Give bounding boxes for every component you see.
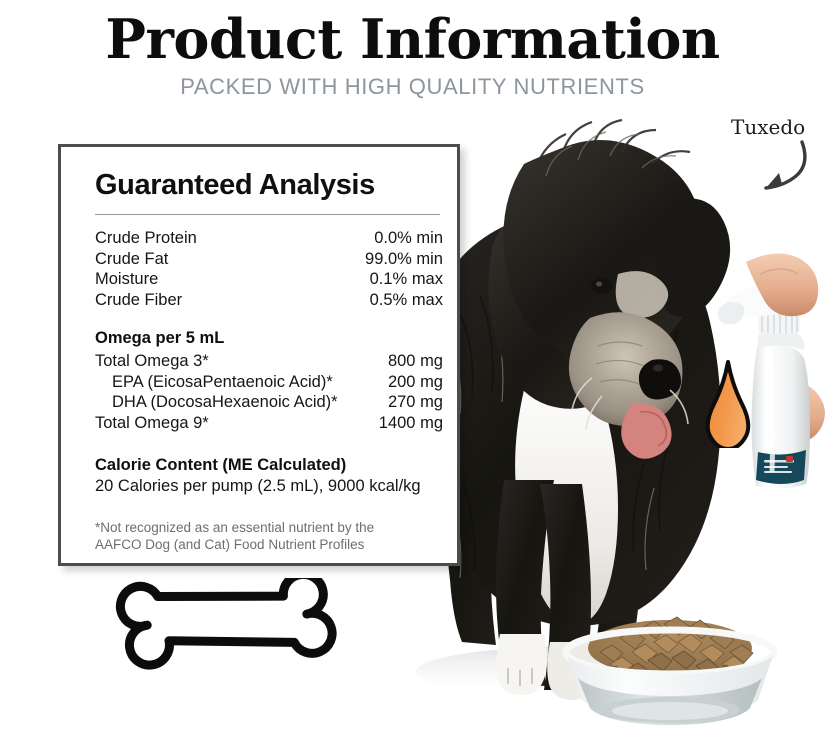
table-row: Crude Protein 0.0% min: [95, 228, 443, 249]
row-value: 270 mg: [388, 392, 443, 413]
row-value: 1400 mg: [379, 413, 443, 434]
panel-divider: [95, 214, 440, 215]
bone-icon: [112, 578, 344, 700]
footnote-line-1: *Not recognized as an essential nutrient…: [95, 519, 443, 536]
row-label: Crude Protein: [95, 228, 197, 249]
row-label: Crude Fat: [95, 249, 168, 270]
row-value: 0.5% max: [370, 290, 443, 311]
row-value: 99.0% min: [365, 249, 443, 270]
food-bowl: [548, 612, 792, 726]
row-value: 800 mg: [388, 351, 443, 372]
table-row: EPA (EicosaPentaenoic Acid)* 200 mg: [95, 372, 443, 393]
row-label: Total Omega 3*: [95, 351, 209, 372]
table-row: Crude Fiber 0.5% max: [95, 290, 443, 311]
curved-arrow-icon: [748, 138, 810, 194]
guaranteed-analysis-panel: Guaranteed Analysis Crude Protein 0.0% m…: [58, 144, 460, 566]
row-label: Total Omega 9*: [95, 413, 209, 434]
row-label: Moisture: [95, 269, 158, 290]
product-information-graphic: Product Information PACKED WITH HIGH QUA…: [0, 0, 825, 739]
row-value: 0.0% min: [374, 228, 443, 249]
dog-name-label: Tuxedo: [731, 115, 805, 139]
table-row: Moisture 0.1% max: [95, 269, 443, 290]
table-row: Total Omega 9* 1400 mg: [95, 413, 443, 434]
row-value: 200 mg: [388, 372, 443, 393]
table-row: DHA (DocosaHexaenoic Acid)* 270 mg: [95, 392, 443, 413]
table-row: Crude Fat 99.0% min: [95, 249, 443, 270]
calorie-content-block: Calorie Content (ME Calculated) 20 Calor…: [95, 455, 443, 497]
row-value: 0.1% max: [370, 269, 443, 290]
guaranteed-analysis-rows: Crude Protein 0.0% min Crude Fat 99.0% m…: [95, 228, 443, 310]
calorie-text: 20 Calories per pump (2.5 mL), 9000 kcal…: [95, 476, 443, 497]
row-label: EPA (EicosaPentaenoic Acid)*: [95, 372, 333, 393]
footnote: *Not recognized as an essential nutrient…: [95, 519, 443, 553]
panel-heading: Guaranteed Analysis: [95, 167, 443, 203]
footnote-line-2: AAFCO Dog (and Cat) Food Nutrient Profil…: [95, 536, 443, 553]
omega-section-title: Omega per 5 mL: [95, 328, 443, 349]
row-label: DHA (DocosaHexaenoic Acid)*: [95, 392, 338, 413]
omega-rows: Total Omega 3* 800 mg EPA (EicosaPentaen…: [95, 351, 443, 433]
table-row: Total Omega 3* 800 mg: [95, 351, 443, 372]
oil-droplet-icon: [700, 358, 756, 448]
row-label: Crude Fiber: [95, 290, 182, 311]
calorie-title: Calorie Content (ME Calculated): [95, 455, 443, 476]
